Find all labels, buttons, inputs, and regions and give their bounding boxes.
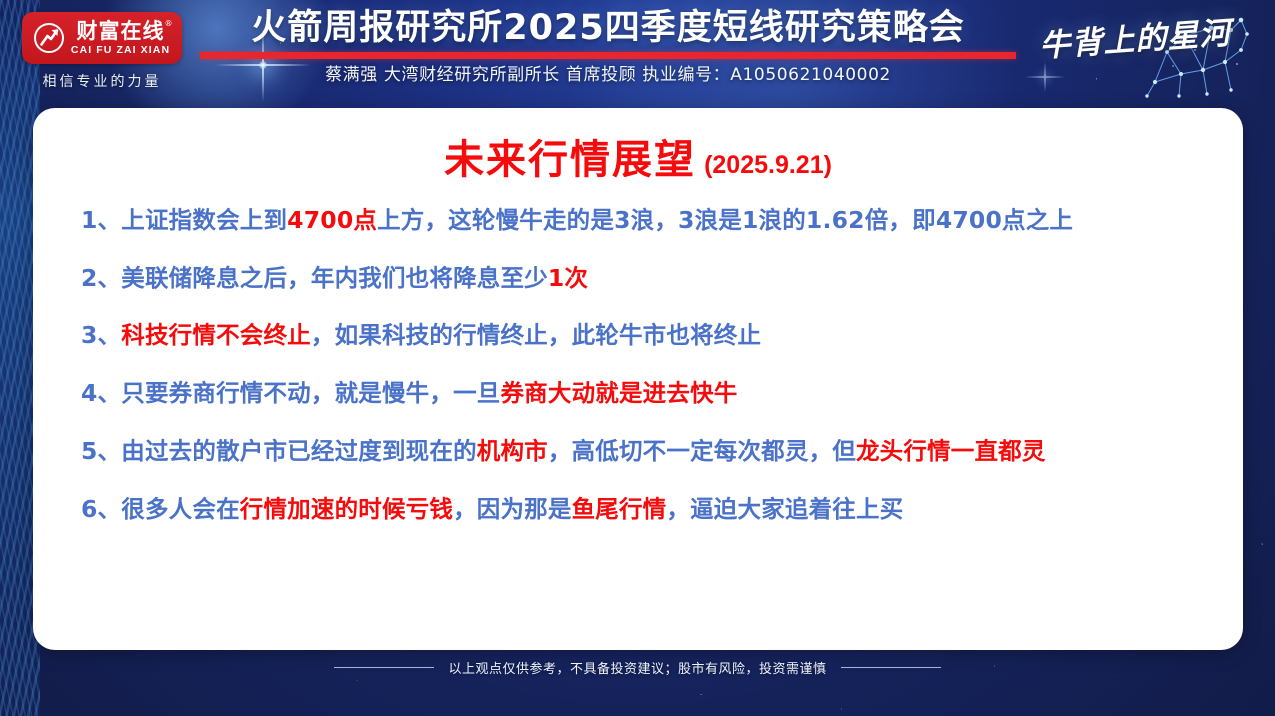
outlook-point: 3、科技行情不会终止，如果科技的行情终止，此轮牛市也将终止 (81, 322, 1221, 350)
card-heading-date: (2025.9.21) (704, 151, 832, 179)
outlook-point-text: 上证指数会上到 (121, 206, 287, 234)
outlook-point-text: 美联储降息之后，年内我们也将降息至少 (121, 264, 548, 292)
logo-wordmark: 财富在线® CAI FU ZAI XIAN (71, 21, 170, 56)
outlook-point: 5、由过去的散户市已经过度到现在的机构市，高低切不一定每次都灵，但龙头行情一直都… (81, 438, 1221, 466)
logo-badge: 财富在线® CAI FU ZAI XIAN (22, 12, 182, 64)
outlook-point-index: 4、 (81, 379, 121, 407)
outlook-point-index: 1、 (81, 206, 121, 234)
footer-rule-right (841, 667, 941, 668)
outlook-point-text: ，高低切不一定每次都灵，但 (548, 437, 856, 465)
outlook-point-highlight: 1次 (548, 264, 588, 292)
outlook-point-highlight: 鱼尾行情 (572, 495, 667, 523)
card-heading-title: 未来行情展望 (444, 137, 696, 183)
outlook-point-text: ，如果科技的行情终止，此轮牛市也将终止 (311, 321, 761, 349)
brand-artwork: 牛背上的星河 (1035, 0, 1267, 104)
logo-name-en: CAI FU ZAI XIAN (71, 45, 170, 56)
outlook-point-highlight: 行情加速的时候亏钱 (240, 495, 453, 523)
compass-arrow-icon (34, 23, 64, 53)
content-card: 未来行情展望(2025.9.21) 1、上证指数会上到4700点上方，这轮慢牛走… (33, 108, 1243, 650)
title-block: 火箭周报研究所2025四季度短线研究策略会 蔡满强 大湾财经研究所副所长 首席投… (192, 8, 1024, 85)
outlook-point-text: 只要券商行情不动，就是慢牛，一旦 (121, 379, 500, 407)
logo-name-cn: 财富在线® (77, 21, 165, 42)
event-title: 火箭周报研究所2025四季度短线研究策略会 (192, 8, 1024, 49)
outlook-point-index: 2、 (81, 264, 121, 292)
outlook-point-highlight: 券商大动就是进去快牛 (500, 379, 737, 407)
outlook-point-text: 很多人会在 (121, 495, 240, 523)
slide-background: 财富在线® CAI FU ZAI XIAN 相信专业的力量 火箭周报研究所202… (0, 0, 1275, 716)
outlook-point-highlight: 龙头行情一直都灵 (856, 437, 1046, 465)
outlook-point-index: 5、 (81, 437, 121, 465)
slide-footer: 以上观点仅供参考，不具备投资建议；股市有风险，投资需谨慎 (0, 658, 1275, 677)
outlook-point-text: ，因为那是 (453, 495, 572, 523)
brand-logo: 财富在线® CAI FU ZAI XIAN 相信专业的力量 (22, 12, 182, 91)
outlook-point-index: 3、 (81, 321, 121, 349)
card-heading: 未来行情展望(2025.9.21) (33, 127, 1243, 185)
slide-header: 财富在线® CAI FU ZAI XIAN 相信专业的力量 火箭周报研究所202… (0, 0, 1275, 104)
outlook-point: 6、很多人会在行情加速的时候亏钱，因为那是鱼尾行情，逼迫大家追着往上买 (81, 496, 1221, 524)
footer-rule-left (334, 667, 434, 668)
brand-tagline: 相信专业的力量 (22, 71, 182, 91)
outlook-point-text: 上方，这轮慢牛走的是3浪，3浪是1浪的1.62倍，即4700点之上 (377, 206, 1073, 234)
outlook-point-index: 6、 (81, 495, 121, 523)
outlook-point-text: 由过去的散户市已经过度到现在的 (121, 437, 477, 465)
registered-trademark-icon: ® (165, 20, 174, 28)
outlook-points-list: 1、上证指数会上到4700点上方，这轮慢牛走的是3浪，3浪是1浪的1.62倍，即… (33, 207, 1243, 523)
outlook-point-highlight: 4700点 (287, 206, 377, 234)
title-underline-bar (200, 52, 1016, 59)
outlook-point-text: ，逼迫大家追着往上买 (666, 495, 903, 523)
outlook-point-highlight: 科技行情不会终止 (121, 321, 311, 349)
outlook-point: 2、美联储降息之后，年内我们也将降息至少1次 (81, 265, 1221, 293)
presenter-credentials: 蔡满强 大湾财经研究所副所长 首席投顾 执业编号：A1050621040002 (192, 60, 1024, 85)
outlook-point-highlight: 机构市 (477, 437, 548, 465)
outlook-point: 4、只要券商行情不动，就是慢牛，一旦券商大动就是进去快牛 (81, 380, 1221, 408)
disclaimer-text: 以上观点仅供参考，不具备投资建议；股市有风险，投资需谨慎 (448, 658, 826, 677)
outlook-point: 1、上证指数会上到4700点上方，这轮慢牛走的是3浪，3浪是1浪的1.62倍，即… (81, 207, 1221, 235)
